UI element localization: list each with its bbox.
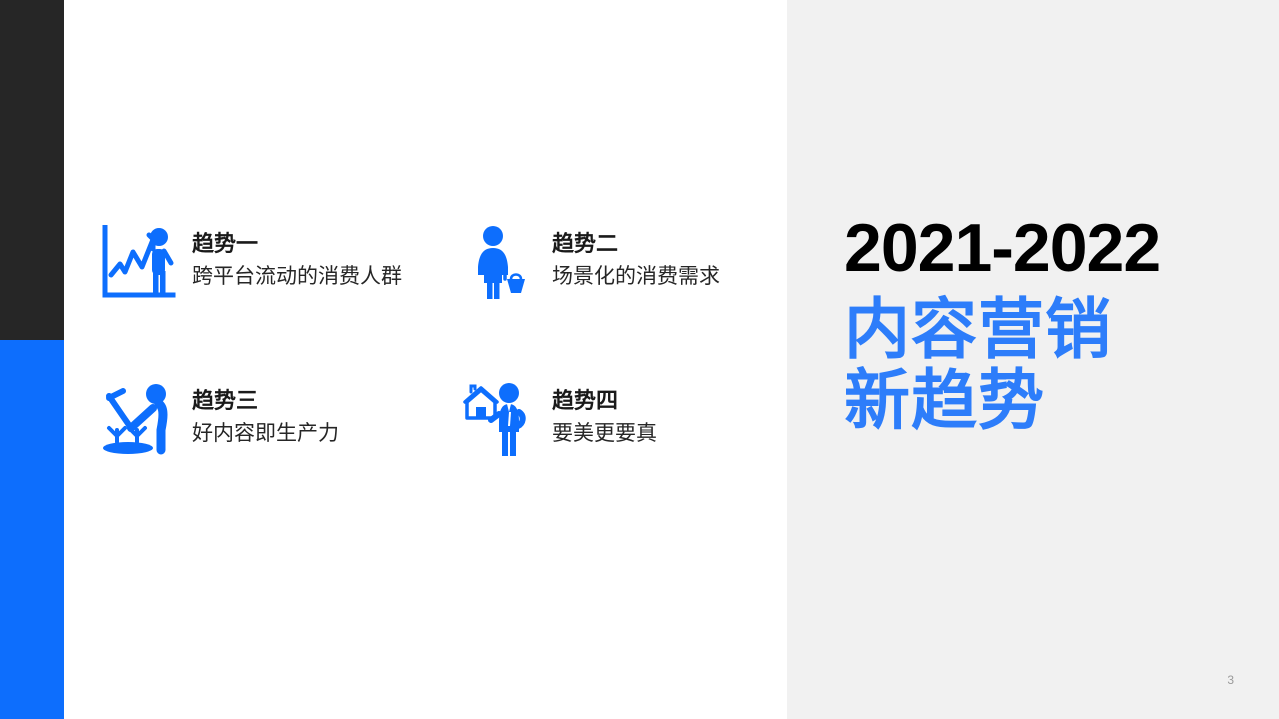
trend-subtitle: 好内容即生产力 — [192, 420, 339, 447]
headline-block: 2021-2022 内容营销 新趋势 — [844, 214, 1274, 437]
right-headline-panel: 2021-2022 内容营销 新趋势 3 — [787, 0, 1279, 719]
trends-grid: 趋势一 跨平台流动的消费人群 趋 — [100, 222, 760, 459]
trend-title: 趋势四 — [552, 387, 657, 415]
headline-year-range: 2021-2022 — [844, 214, 1274, 282]
headline-line-1: 内容营销 — [844, 294, 1274, 365]
trend-item-2: 趋势二 场景化的消费需求 — [460, 222, 760, 302]
businessman-house-icon — [460, 379, 538, 459]
accent-block-dark — [0, 0, 64, 340]
trend-title: 趋势一 — [192, 230, 402, 258]
trends-row-bottom: 趋势三 好内容即生产力 — [100, 379, 760, 459]
trends-row-top: 趋势一 跨平台流动的消费人群 趋 — [100, 222, 760, 302]
trend-title: 趋势三 — [192, 387, 339, 415]
trend-item-3: 趋势三 好内容即生产力 — [100, 379, 460, 459]
farmer-hoe-plants-icon — [100, 379, 178, 459]
trend-item-1: 趋势一 跨平台流动的消费人群 — [100, 222, 460, 302]
trend-subtitle: 要美更要真 — [552, 420, 657, 447]
slide-canvas: 趋势一 跨平台流动的消费人群 趋 — [0, 0, 1279, 719]
trend-text-4: 趋势四 要美更要真 — [538, 379, 657, 447]
trend-subtitle: 跨平台流动的消费人群 — [192, 263, 402, 290]
trend-text-3: 趋势三 好内容即生产力 — [178, 379, 339, 447]
trend-text-1: 趋势一 跨平台流动的消费人群 — [178, 222, 402, 290]
accent-block-blue — [0, 340, 64, 719]
trend-title: 趋势二 — [552, 230, 720, 258]
trend-text-2: 趋势二 场景化的消费需求 — [538, 222, 720, 290]
person-line-chart-icon — [100, 222, 178, 302]
headline-line-2: 新趋势 — [844, 365, 1274, 436]
trend-item-4: 趋势四 要美更要真 — [460, 379, 760, 459]
left-accent-strip — [0, 0, 64, 719]
trend-subtitle: 场景化的消费需求 — [552, 263, 720, 290]
page-number: 3 — [1227, 673, 1234, 687]
headline-chinese: 内容营销 新趋势 — [844, 294, 1274, 437]
woman-shopping-basket-icon — [460, 222, 538, 302]
